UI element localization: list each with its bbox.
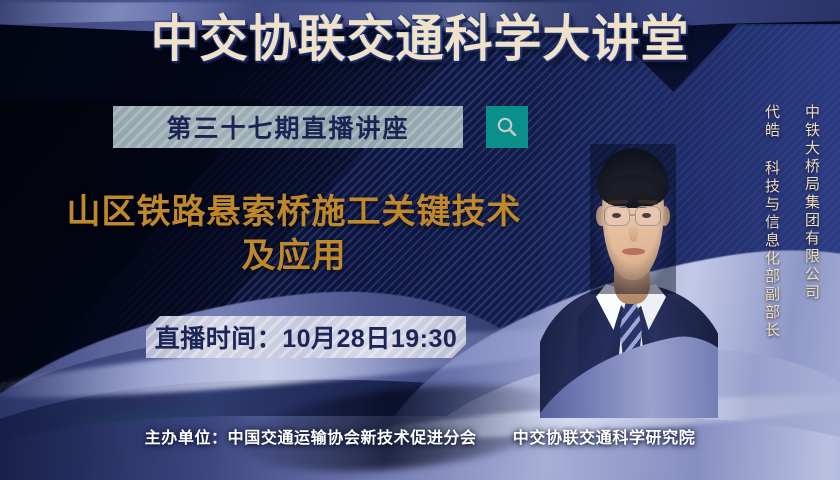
- speaker-role: 科技与信息化部副部长: [760, 160, 782, 340]
- lecture-title-line-2: 及应用: [34, 234, 554, 278]
- speaker-photo: [540, 88, 718, 418]
- lecture-title-line-1: 山区铁路悬索桥施工关键技术: [34, 190, 554, 234]
- eyeglasses-lens-right: [635, 206, 661, 226]
- mouth: [622, 248, 645, 255]
- speaker-organization: 中铁大桥局集团有限公司: [800, 104, 822, 302]
- nose: [629, 224, 638, 242]
- page-title: 中交协联交通科学大讲堂: [17, 14, 823, 64]
- webinar-poster: 中交协联交通科学大讲堂 第三十七期直播讲座 山区铁路悬索桥施工关键技术 及应用 …: [0, 0, 840, 480]
- search-button[interactable]: [486, 106, 528, 148]
- lecture-title: 山区铁路悬索桥施工关键技术 及应用: [34, 190, 554, 278]
- session-bar: 第三十七期直播讲座: [113, 106, 463, 148]
- search-icon: [495, 115, 519, 139]
- eyeglasses-bridge: [629, 214, 636, 216]
- footer-organizers: 主办单位：中国交通运输协会新技术促进分会 中交协联交通科学研究院: [0, 424, 840, 448]
- speaker-portrait-illustration: [540, 88, 718, 418]
- live-time-badge: 直播时间：10月28日19:30: [146, 316, 466, 358]
- footer-institute-text: 中交协联交通科学研究院: [513, 430, 696, 447]
- speaker-name: 代皓: [760, 104, 782, 140]
- session-label: 第三十七期直播讲座: [166, 109, 409, 145]
- footer-host-text: 主办单位：中国交通运输协会新技术促进分会: [145, 430, 477, 447]
- live-time-text: 直播时间：10月28日19:30: [155, 319, 458, 355]
- eyeglasses-lens-left: [604, 206, 630, 226]
